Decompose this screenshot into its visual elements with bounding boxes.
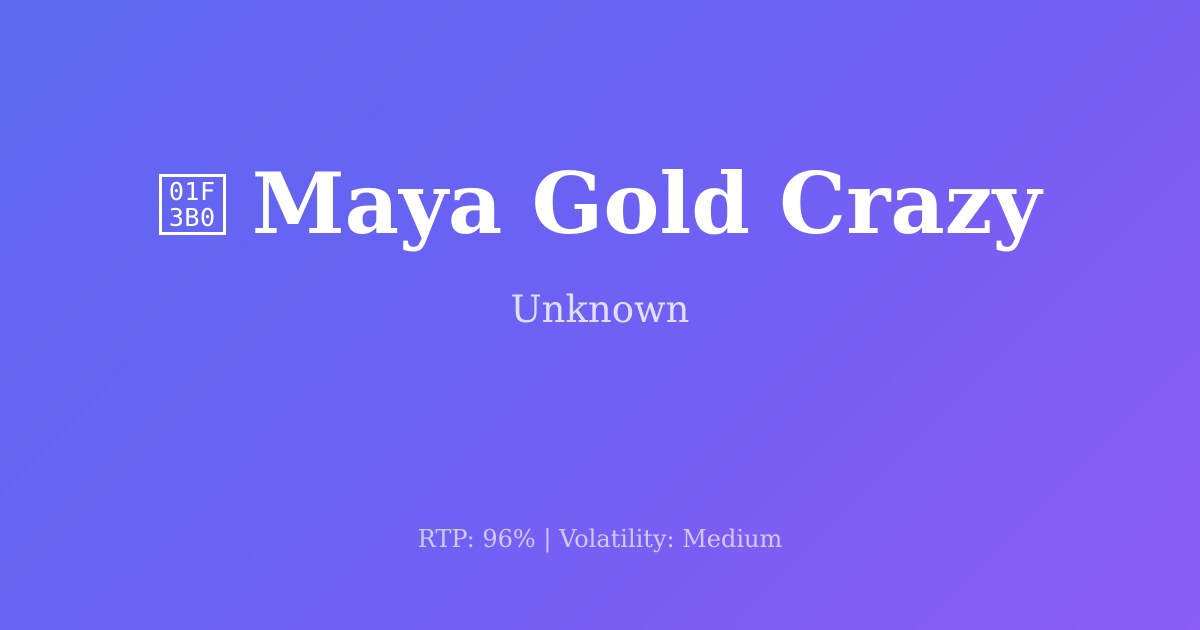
og-preview-card: 01F 3B0 Maya Gold Crazy Unknown RTP: 96%… <box>0 0 1200 630</box>
slot-machine-icon-codepoint-top: 01F <box>169 179 216 205</box>
game-stats-line: RTP: 96% | Volatility: Medium <box>0 525 1200 554</box>
hero-section: 01F 3B0 Maya Gold Crazy Unknown <box>0 0 1200 492</box>
page-title: Maya Gold Crazy <box>252 161 1042 247</box>
title-row: 01F 3B0 Maya Gold Crazy <box>159 161 1042 247</box>
slot-machine-icon-codepoint-bottom: 3B0 <box>169 205 216 231</box>
provider-subtitle: Unknown <box>510 290 689 331</box>
slot-machine-icon: 01F 3B0 <box>159 174 226 235</box>
